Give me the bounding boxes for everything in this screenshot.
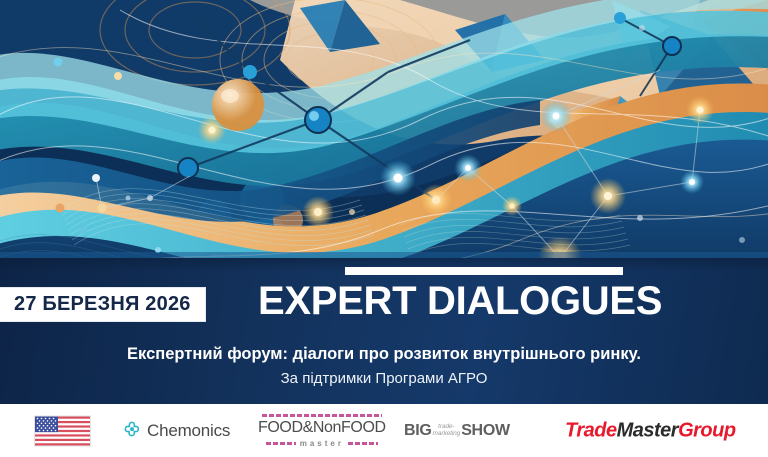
partner-logo-strip: Chemonics FOOD&NonFOOD master BIG trade-…: [0, 404, 768, 457]
subtitle: Експертний форум: діалоги про розвиток в…: [0, 345, 768, 364]
fnf-sub-label: master: [300, 439, 344, 448]
bigshow-part1: BIG: [404, 422, 432, 440]
chemonics-clover-icon: [122, 421, 142, 441]
logo-food-nonfood-master: FOOD&NonFOOD master: [258, 414, 386, 448]
event-banner: 27 БЕРЕЗНЯ 2026 EXPERT DIALOGUES Експерт…: [0, 0, 768, 457]
bigshow-middle: trade- marketing: [432, 424, 462, 436]
tmg-part3: Group: [678, 419, 736, 441]
date-badge-text: 27 БЕРЕЗНЯ 2026: [14, 293, 191, 316]
bigshow-part2-line2: marketing: [433, 431, 461, 437]
date-badge: 27 БЕРЕЗНЯ 2026: [0, 288, 205, 321]
page-title: EXPERT DIALOGUES: [258, 281, 662, 321]
artwork-graphic: [0, 0, 768, 300]
white-accent-bar: [345, 267, 623, 275]
fnf-top-rule: [262, 414, 382, 417]
fnf-bottom-row: master: [258, 439, 386, 448]
fnf-dash-right: [348, 442, 378, 445]
bigshow-part3: SHOW: [461, 422, 510, 440]
us-flag-icon: [34, 415, 91, 446]
fnf-label: FOOD&NonFOOD: [258, 419, 386, 437]
bigshow-row: BIG trade- marketing SHOW: [404, 422, 510, 440]
chemonics-label: Chemonics: [147, 421, 230, 441]
logo-trademastergroup: TradeMasterGroup: [565, 419, 736, 442]
logo-big-trade-marketing-show: BIG trade- marketing SHOW: [404, 422, 510, 440]
us-flag-svg: [35, 416, 90, 445]
support-line: За підтримки Програми АГРО: [0, 370, 768, 387]
tmg-part2: Master: [617, 419, 678, 441]
abstract-artwork: [0, 0, 768, 300]
tmg-part1: Trade: [565, 419, 617, 441]
logo-chemonics: Chemonics: [122, 421, 230, 441]
fnf-dash-left: [266, 442, 296, 445]
